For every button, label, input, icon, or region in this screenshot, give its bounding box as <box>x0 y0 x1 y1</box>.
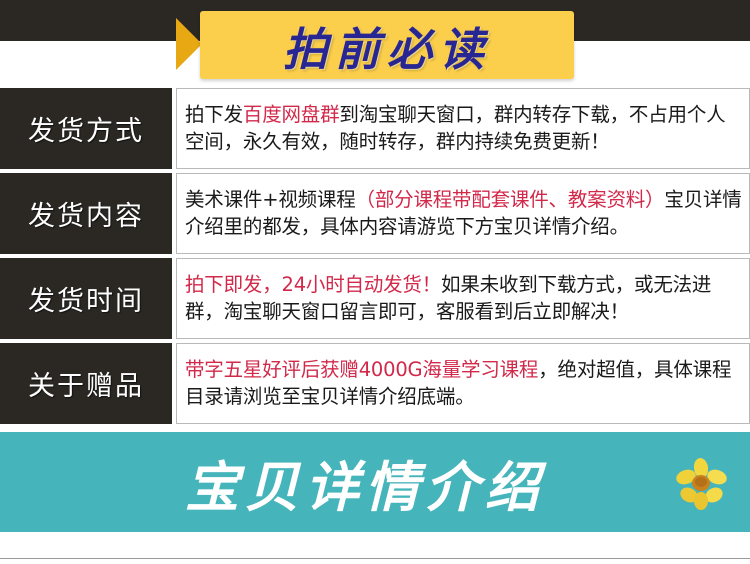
info-row-content: 拍下发百度网盘群到淘宝聊天窗口，群内转存下载，不占用个人空间，永久有效，随时转存… <box>176 88 750 169</box>
footer-rule <box>0 558 750 559</box>
highlight-text: （部分课程带配套课件、教案资料） <box>356 188 665 211</box>
ribbon-tail-left <box>176 18 202 70</box>
highlight-text: 百度网盘群 <box>243 103 340 126</box>
footer-banner: 宝贝详情介绍 <box>0 432 750 532</box>
top-banner: 拍前必读 <box>0 0 750 88</box>
info-row: 发货内容美术课件+视频课程（部分课程带配套课件、教案资料）宝贝详情介绍里的都发，… <box>0 173 750 254</box>
info-row: 发货时间拍下即发，24小时自动发货！如果未收到下载方式，或无法进群，淘宝聊天窗口… <box>0 258 750 339</box>
info-row-label: 发货方式 <box>0 88 172 169</box>
info-row-label: 发货内容 <box>0 173 172 254</box>
highlight-text: 拍下即发，24小时自动发货！ <box>185 273 441 296</box>
highlight-text: 带字五星好评后获赠4000G海量学习课程 <box>185 358 538 381</box>
footer-banner-title: 宝贝详情介绍 <box>0 432 750 532</box>
info-row-content: 拍下即发，24小时自动发货！如果未收到下载方式，或无法进群，淘宝聊天窗口留言即可… <box>176 258 750 339</box>
footer-white-strip <box>0 532 750 564</box>
info-row-label: 关于赠品 <box>0 343 172 424</box>
info-row: 关于赠品带字五星好评后获赠4000G海量学习课程，绝对超值，具体课程目录请浏览至… <box>0 343 750 424</box>
banner-title: 拍前必读 <box>200 11 574 79</box>
info-row-content: 带字五星好评后获赠4000G海量学习课程，绝对超值，具体课程目录请浏览至宝贝详情… <box>176 343 750 424</box>
promo-page: 拍前必读 发货方式拍下发百度网盘群到淘宝聊天窗口，群内转存下载，不占用个人空间，… <box>0 0 750 564</box>
info-row-label: 发货时间 <box>0 258 172 339</box>
info-row: 发货方式拍下发百度网盘群到淘宝聊天窗口，群内转存下载，不占用个人空间，永久有效，… <box>0 88 750 169</box>
flower-icon <box>672 455 730 513</box>
body-text: 美术课件+视频课程 <box>185 188 356 211</box>
info-table: 发货方式拍下发百度网盘群到淘宝聊天窗口，群内转存下载，不占用个人空间，永久有效，… <box>0 88 750 428</box>
body-text: 拍下发 <box>185 103 243 126</box>
info-row-content: 美术课件+视频课程（部分课程带配套课件、教案资料）宝贝详情介绍里的都发，具体内容… <box>176 173 750 254</box>
